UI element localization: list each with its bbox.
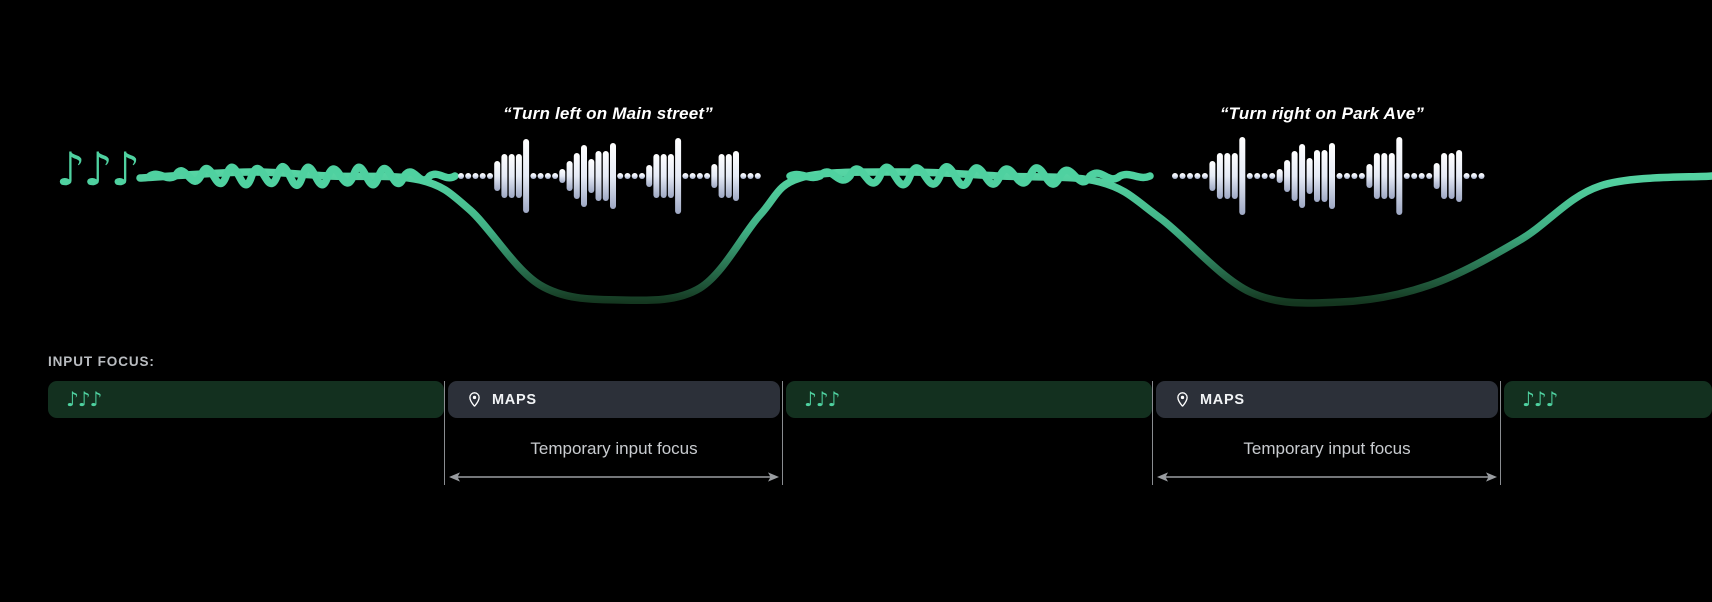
speech-bar: [501, 154, 507, 198]
segment-divider: [782, 381, 783, 485]
speech-bar: [675, 138, 681, 214]
speech-bar: [509, 154, 515, 198]
focus-track: ♪♪♪MAPSTemporary input focus♪♪♪MAPSTempo…: [0, 381, 1712, 597]
music-note-icon: ♪♪♪: [1522, 389, 1557, 409]
speech-bar: [748, 173, 754, 179]
speech-bar: [1441, 153, 1447, 199]
speech-bar: [1172, 173, 1178, 179]
speech-bar: [1232, 153, 1238, 199]
speech-bar: [480, 173, 486, 179]
location-pin-icon: [1174, 391, 1191, 408]
speech-bar: [1247, 173, 1253, 179]
speech-bar: [1366, 164, 1372, 188]
speech-bar: [1434, 163, 1440, 189]
speech-bar: [1337, 173, 1343, 179]
speech-bar: [545, 173, 551, 179]
speech-bar: [1479, 173, 1485, 179]
speech-bar: [538, 173, 544, 179]
speech-bar: [516, 154, 522, 198]
speech-bar: [1389, 153, 1395, 199]
speech-bar: [1307, 158, 1313, 194]
focus-span-arrow: [448, 469, 780, 485]
speech-bar: [1351, 173, 1357, 179]
segment-divider: [444, 381, 445, 485]
segment-divider: [1152, 381, 1153, 485]
speech-bar: [740, 173, 746, 179]
speech-bar: [1456, 150, 1462, 202]
speech-bar: [1344, 173, 1350, 179]
music-note-icon: ♪♪♪: [66, 389, 101, 409]
temporary-focus-annotation: Temporary input focus: [448, 439, 780, 485]
scene: ♪♪♪ “Turn left on Main street” “Turn rig…: [0, 0, 1712, 602]
speech-bar: [625, 173, 631, 179]
speech-bar: [473, 173, 479, 179]
maps-chip-label: MAPS: [1200, 392, 1245, 408]
speech-bar: [733, 151, 739, 201]
speech-bar: [755, 173, 761, 179]
speech-bar: [1471, 173, 1477, 179]
speech-bar: [690, 173, 696, 179]
speech-bar: [1209, 161, 1215, 191]
speech-bar: [1314, 150, 1320, 202]
speech-bar: [523, 139, 529, 213]
speech-bar: [1374, 153, 1380, 199]
location-pin-icon: [466, 391, 483, 408]
speech-bar: [704, 173, 710, 179]
speech-bar: [646, 165, 652, 187]
speech-bar: [632, 173, 638, 179]
speech-bar: [1396, 137, 1402, 215]
speech-bar: [458, 173, 464, 179]
input-focus-label: INPUT FOCUS:: [48, 354, 155, 369]
speech-bar: [711, 164, 717, 188]
speech-bar: [530, 173, 536, 179]
speech-bar: [1404, 173, 1410, 179]
speech-bar: [1202, 173, 1208, 179]
maps-chip-label: MAPS: [492, 392, 537, 408]
speech-bar: [661, 154, 667, 198]
speech-bar: [581, 145, 587, 207]
music-focus-chip[interactable]: ♪♪♪: [786, 381, 1152, 418]
speech-bar: [1194, 173, 1200, 179]
speech-bar: [719, 154, 725, 198]
speech-bar: [668, 154, 674, 198]
speech-bar: [653, 154, 659, 198]
speech-bar: [726, 154, 732, 198]
speech-bar: [1224, 153, 1230, 199]
focus-segment-maps[interactable]: MAPSTemporary input focus: [1156, 381, 1498, 597]
temporary-focus-text: Temporary input focus: [448, 439, 780, 459]
focus-segment-music[interactable]: ♪♪♪: [48, 381, 444, 597]
music-note-icon: ♪♪♪: [804, 389, 839, 409]
speech-bar: [552, 173, 558, 179]
speech-bar: [494, 161, 500, 191]
speech-bar: [1277, 169, 1283, 183]
speech-bar: [1239, 137, 1245, 215]
speech-bar: [559, 169, 565, 183]
speech-bar: [697, 173, 703, 179]
speech-bar: [1426, 173, 1432, 179]
speech-bar: [465, 173, 471, 179]
music-ducking-curve: [140, 172, 1712, 303]
focus-span-arrow: [1156, 469, 1498, 485]
speech-bar: [1329, 143, 1335, 209]
speech-bar: [1180, 173, 1186, 179]
speech-bar: [1217, 153, 1223, 199]
input-focus-timeline: INPUT FOCUS: ♪♪♪MAPSTemporary input focu…: [0, 348, 1712, 602]
speech-bar: [1187, 173, 1193, 179]
focus-segment-music[interactable]: ♪♪♪: [1504, 381, 1712, 597]
music-focus-chip[interactable]: ♪♪♪: [48, 381, 444, 418]
speech-bar: [1269, 173, 1275, 179]
speech-bars-group-1: [458, 138, 761, 214]
speech-bar: [1262, 173, 1268, 179]
speech-bar: [617, 173, 623, 179]
speech-bar: [1449, 153, 1455, 199]
segment-divider: [1500, 381, 1501, 485]
music-focus-chip[interactable]: ♪♪♪: [1504, 381, 1712, 418]
speech-bar: [1284, 160, 1290, 192]
speech-bar: [1419, 173, 1425, 179]
speech-bar: [574, 153, 580, 199]
audio-waveform-graphic: [0, 0, 1712, 340]
temporary-focus-text: Temporary input focus: [1156, 439, 1498, 459]
temporary-focus-annotation: Temporary input focus: [1156, 439, 1498, 485]
speech-bar: [588, 159, 594, 193]
speech-bar: [610, 143, 616, 209]
maps-focus-chip[interactable]: MAPS: [1156, 381, 1498, 418]
speech-bar: [1464, 173, 1470, 179]
speech-bar: [1381, 153, 1387, 199]
speech-bar: [1254, 173, 1260, 179]
focus-segment-maps[interactable]: MAPSTemporary input focus: [448, 381, 780, 597]
speech-bar: [1322, 150, 1328, 202]
maps-focus-chip[interactable]: MAPS: [448, 381, 780, 418]
speech-bar: [1292, 151, 1298, 201]
speech-bar: [1411, 173, 1417, 179]
speech-bar: [1299, 144, 1305, 208]
speech-bar: [1359, 173, 1365, 179]
speech-bar: [596, 151, 602, 201]
focus-segment-music[interactable]: ♪♪♪: [786, 381, 1152, 597]
speech-bar: [567, 161, 573, 191]
speech-bar: [682, 173, 688, 179]
speech-bar: [639, 173, 645, 179]
speech-bar: [487, 173, 493, 179]
speech-bar: [603, 151, 609, 201]
